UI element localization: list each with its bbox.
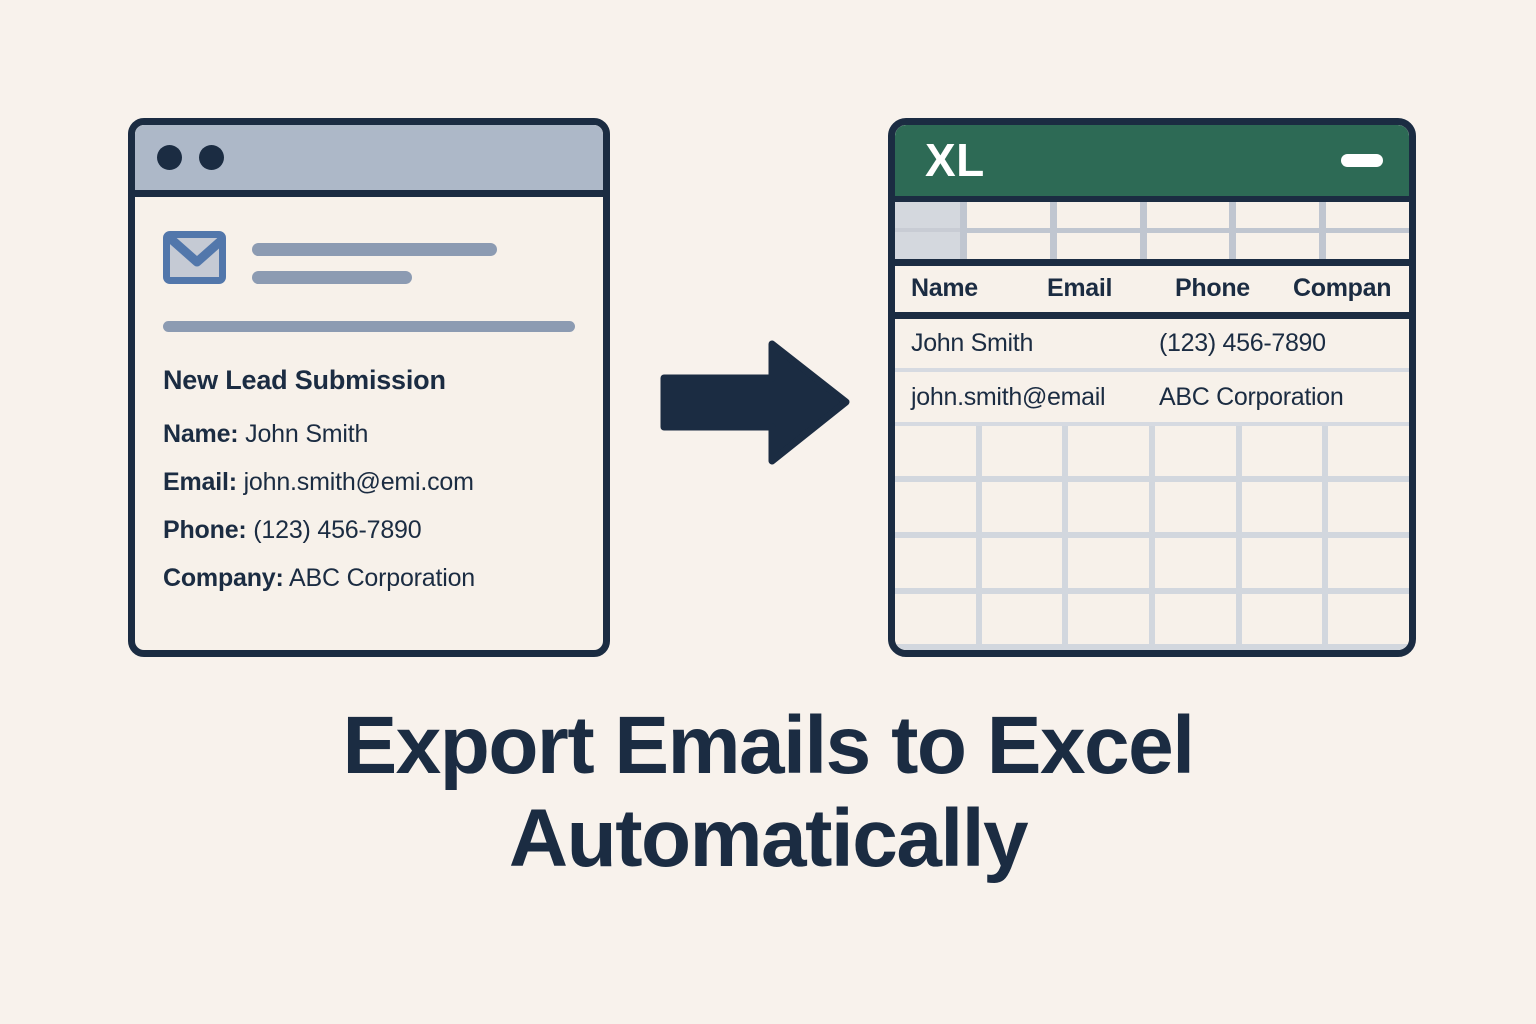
email-meta-skeleton: [252, 231, 497, 284]
grid-cell[interactable]: [895, 594, 976, 650]
grid-cell[interactable]: [1155, 482, 1236, 538]
page-title-line-2: Automatically: [0, 793, 1536, 886]
grid-column: [960, 202, 1050, 259]
grid-column: [976, 426, 1063, 650]
email-field-name: Name: John Smith: [163, 420, 575, 449]
window-dot-2-icon[interactable]: [199, 145, 224, 170]
minimize-icon[interactable]: [1341, 154, 1383, 167]
grid-cell[interactable]: [895, 538, 976, 594]
grid-cell[interactable]: [1242, 594, 1323, 650]
grid-cell[interactable]: [1147, 202, 1230, 233]
field-value: (123) 456-7890: [253, 516, 421, 544]
excel-logo: XL: [925, 137, 985, 183]
email-window-body: New Lead Submission Name: John Smith Ema…: [135, 197, 603, 593]
email-field-email: Email: john.smith@emi.com: [163, 468, 575, 497]
email-window: New Lead Submission Name: John Smith Ema…: [128, 118, 610, 657]
grid-cell[interactable]: [1155, 426, 1236, 482]
poster-canvas: New Lead Submission Name: John Smith Ema…: [0, 0, 1536, 1024]
field-value: john.smith@emi.com: [244, 468, 474, 496]
table-row[interactable]: John Smith (123) 456-7890: [895, 319, 1409, 373]
column-header-company[interactable]: Compan: [1293, 274, 1391, 303]
page-title-line-1: Export Emails to Excel: [0, 700, 1536, 793]
spreadsheet-header-row: Name Email Phone Compan: [895, 266, 1409, 319]
row-header-column: [895, 202, 960, 259]
cell-email[interactable]: john.smith@email: [911, 383, 1159, 412]
excel-window: XL: [888, 118, 1416, 657]
envelope-icon: [163, 231, 226, 284]
grid-column: [1140, 202, 1230, 259]
grid-cell[interactable]: [1155, 594, 1236, 650]
cell-company[interactable]: ABC Corporation: [1159, 383, 1343, 412]
grid-column: [1062, 426, 1149, 650]
field-label: Email:: [163, 468, 237, 496]
grid-cell[interactable]: [1155, 538, 1236, 594]
spreadsheet-top-grid: [895, 202, 1409, 266]
grid-column: [1322, 426, 1409, 650]
top-grid-columns: [960, 202, 1409, 259]
grid-cell[interactable]: [1242, 482, 1323, 538]
column-header-email[interactable]: Email: [1047, 274, 1175, 303]
grid-cell[interactable]: [1328, 594, 1409, 650]
grid-cell[interactable]: [895, 482, 976, 538]
grid-cell[interactable]: [1326, 233, 1409, 259]
grid-cell[interactable]: [1236, 233, 1319, 259]
grid-column: [895, 426, 976, 650]
grid-cell[interactable]: [1242, 538, 1323, 594]
arrow-right-icon: [660, 340, 850, 465]
field-label: Phone:: [163, 516, 247, 544]
grid-cell[interactable]: [1147, 233, 1230, 259]
field-value: ABC Corporation: [289, 564, 475, 592]
grid-column: [1149, 426, 1236, 650]
field-value: John Smith: [245, 420, 368, 448]
skeleton-line-1: [252, 243, 497, 256]
grid-cell[interactable]: [1242, 426, 1323, 482]
grid-cell[interactable]: [1068, 538, 1149, 594]
grid-cell[interactable]: [1328, 538, 1409, 594]
grid-cell[interactable]: [1236, 202, 1319, 233]
grid-column: [1050, 202, 1140, 259]
grid-cell[interactable]: [982, 594, 1063, 650]
field-label: Name:: [163, 420, 238, 448]
column-header-name[interactable]: Name: [911, 274, 1047, 303]
email-header-row: [163, 231, 575, 284]
grid-cell[interactable]: [1068, 482, 1149, 538]
grid-cell[interactable]: [1326, 202, 1409, 233]
grid-cell[interactable]: [1068, 594, 1149, 650]
email-subject: New Lead Submission: [163, 365, 575, 396]
cell-name[interactable]: John Smith: [911, 329, 1159, 358]
row-header-cell: [895, 232, 960, 259]
grid-cell[interactable]: [982, 482, 1063, 538]
field-label: Company:: [163, 564, 284, 592]
grid-cell[interactable]: [1057, 202, 1140, 233]
window-dot-1-icon[interactable]: [157, 145, 182, 170]
grid-cell[interactable]: [982, 538, 1063, 594]
grid-cell[interactable]: [1328, 426, 1409, 482]
grid-cell[interactable]: [895, 426, 976, 482]
email-field-company: Company: ABC Corporation: [163, 564, 575, 593]
skeleton-line-2: [252, 271, 412, 284]
grid-cell[interactable]: [967, 202, 1050, 233]
page-title: Export Emails to Excel Automatically: [0, 700, 1536, 885]
grid-cell[interactable]: [1057, 233, 1140, 259]
grid-cell[interactable]: [1068, 426, 1149, 482]
column-header-phone[interactable]: Phone: [1175, 274, 1293, 303]
grid-cell[interactable]: [1328, 482, 1409, 538]
cell-phone[interactable]: (123) 456-7890: [1159, 329, 1326, 358]
email-field-phone: Phone: (123) 456-7890: [163, 516, 575, 545]
grid-column: [1229, 202, 1319, 259]
table-row[interactable]: john.smith@email ABC Corporation: [895, 372, 1409, 426]
email-divider: [163, 321, 575, 332]
spreadsheet-empty-grid: [895, 426, 1409, 650]
email-window-titlebar: [135, 125, 603, 197]
grid-cell[interactable]: [967, 233, 1050, 259]
excel-window-titlebar: XL: [895, 125, 1409, 202]
grid-column: [1319, 202, 1409, 259]
grid-cell[interactable]: [982, 426, 1063, 482]
email-field-list: Name: John Smith Email: john.smith@emi.c…: [163, 420, 575, 593]
row-header-cell: [895, 202, 960, 233]
grid-column: [1236, 426, 1323, 650]
